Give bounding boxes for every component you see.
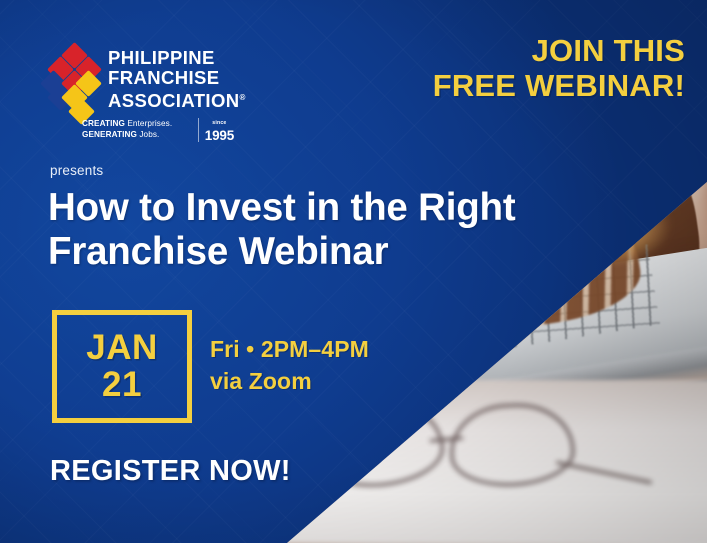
tagline-line-2: GENERATING Jobs. (82, 130, 194, 141)
event-platform: via Zoom (210, 365, 369, 397)
webinar-title-line-2: Franchise Webinar (48, 230, 608, 274)
webinar-poster: PHILIPPINE FRANCHISE ASSOCIATION® CREATI… (0, 0, 707, 543)
join-free-webinar-callout: JOIN THIS FREE WEBINAR! (433, 33, 685, 103)
logo-line-association: ASSOCIATION® (108, 88, 246, 111)
join-callout-line-1: JOIN THIS (433, 33, 685, 68)
logo-line-franchise: FRANCHISE (108, 68, 246, 88)
logo-since-badge: since 1995 (198, 118, 234, 142)
register-now-callout[interactable]: REGISTER NOW! (50, 455, 291, 488)
tagline-line-1: CREATING Enterprises. (82, 119, 194, 130)
logo-line-philippine: PHILIPPINE (108, 48, 246, 68)
pfa-logo: PHILIPPINE FRANCHISE ASSOCIATION® CREATI… (44, 44, 234, 148)
pfa-diamond-mark-icon (44, 46, 106, 124)
webinar-title-line-1: How to Invest in the Right (48, 186, 608, 230)
pfa-logo-wordmark: PHILIPPINE FRANCHISE ASSOCIATION® (108, 48, 246, 111)
event-time: Fri • 2PM–4PM (210, 333, 369, 365)
pfa-logo-tagline: CREATING Enterprises. GENERATING Jobs. s… (82, 118, 234, 142)
webinar-title: How to Invest in the Right Franchise Web… (48, 186, 608, 274)
event-date-badge: JAN 21 (52, 310, 192, 423)
event-day: 21 (102, 366, 142, 404)
event-month: JAN (86, 330, 158, 366)
presents-label: presents (50, 163, 103, 178)
join-callout-line-2: FREE WEBINAR! (433, 68, 685, 103)
event-schedule: Fri • 2PM–4PM via Zoom (210, 333, 369, 397)
registered-trademark-icon: ® (240, 93, 246, 102)
